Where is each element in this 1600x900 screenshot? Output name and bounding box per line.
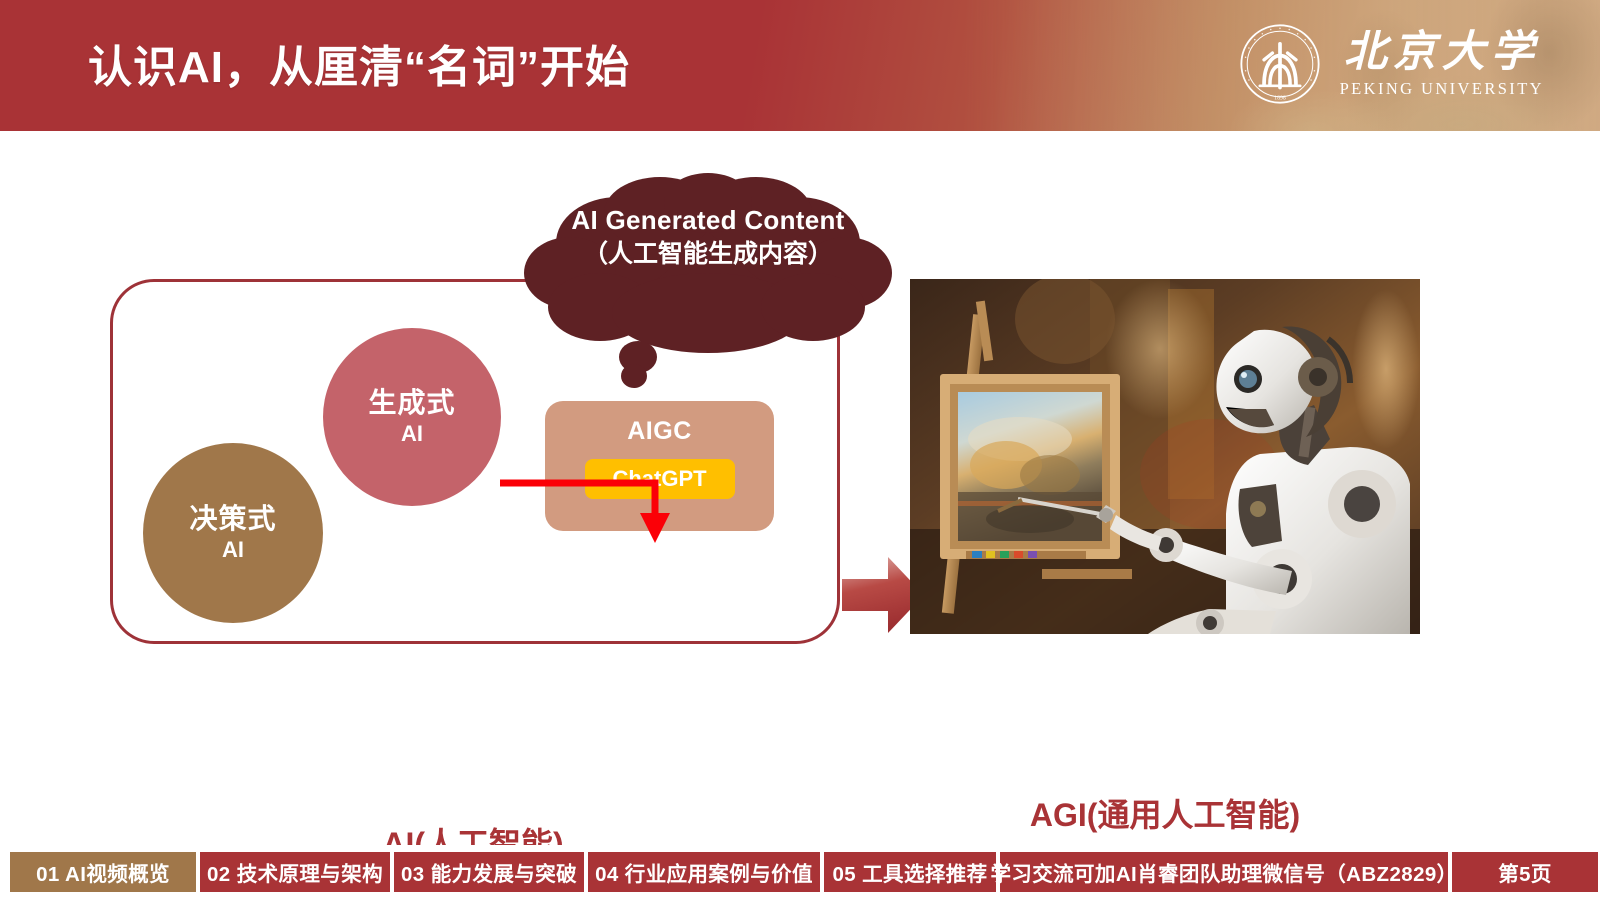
- node-decision-ai[interactable]: 决策式 AI: [143, 443, 323, 623]
- node-decision-ai-cn: 决策式: [189, 503, 276, 534]
- footer-nav-item-label: 01 AI视频概览: [36, 857, 170, 887]
- pku-seal-year: 1898: [1274, 95, 1286, 101]
- footer-nav-item-label: 04 行业应用案例与价值: [595, 857, 813, 887]
- pku-seal-icon: 1898: [1238, 22, 1322, 106]
- footer-nav-item-1[interactable]: 01 AI视频概览: [10, 852, 196, 892]
- footer-nav-item-6[interactable]: 学习交流可加AI肖睿团队助理微信号（ABZ2829）: [1000, 852, 1448, 892]
- slide-header: 认识AI，从厘清“名词”开始 1898: [0, 0, 1600, 131]
- page-title: 认识AI，从厘清“名词”开始: [88, 31, 630, 95]
- footer-nav-item-label: 学习交流可加AI肖睿团队助理微信号（ABZ2829）: [990, 857, 1457, 887]
- footer-nav-item-label: 第5页: [1498, 857, 1552, 887]
- agi-robot-image: [910, 279, 1420, 634]
- footer-nav-item-2[interactable]: 02 技术原理与架构: [200, 852, 390, 892]
- footer-nav-item-4[interactable]: 04 行业应用案例与价值: [588, 852, 820, 892]
- node-generative-ai-cn: 生成式: [368, 387, 455, 418]
- pku-wordmark: 北京大学 PEKING UNIVERSITY: [1340, 31, 1544, 98]
- robot-painting-illustration: [910, 279, 1420, 634]
- footer-nav-item-7[interactable]: 第5页: [1452, 852, 1598, 892]
- connector-arrow-generative-to-aigc: [495, 461, 695, 571]
- footer-nav-item-label: 03 能力发展与突破: [401, 857, 577, 887]
- pku-chinese-name: 北京大学: [1344, 31, 1540, 74]
- footer-nav-item-label: 05 工具选择推荐: [832, 857, 987, 887]
- thought-bubble-shape: [508, 161, 908, 461]
- footer-nav-item-label: 02 技术原理与架构: [207, 857, 383, 887]
- footer-nav-item-5[interactable]: 05 工具选择推荐: [824, 852, 996, 892]
- peking-university-logo: 1898 北京大学 PEKING UNIVERSITY: [1238, 22, 1544, 106]
- node-decision-ai-en: AI: [222, 537, 244, 563]
- footer-nav: 01 AI视频概览02 技术原理与架构03 能力发展与突破04 行业应用案例与价…: [10, 852, 1598, 892]
- footer-nav-item-3[interactable]: 03 能力发展与突破: [394, 852, 584, 892]
- node-generative-ai[interactable]: 生成式 AI: [323, 328, 501, 506]
- slide-footer: 01 AI视频概览02 技术原理与架构03 能力发展与突破04 行业应用案例与价…: [0, 845, 1600, 900]
- caption-agi-line1: AGI(通用人工智能): [905, 790, 1425, 836]
- slide-body: 决策式 AI 生成式 AI AIGC ChatGPT: [0, 131, 1600, 845]
- pku-english-name: PEKING UNIVERSITY: [1340, 81, 1544, 98]
- thought-bubble-aigc: AI Generated Content （人工智能生成内容）: [508, 161, 908, 461]
- node-generative-ai-en: AI: [401, 421, 423, 447]
